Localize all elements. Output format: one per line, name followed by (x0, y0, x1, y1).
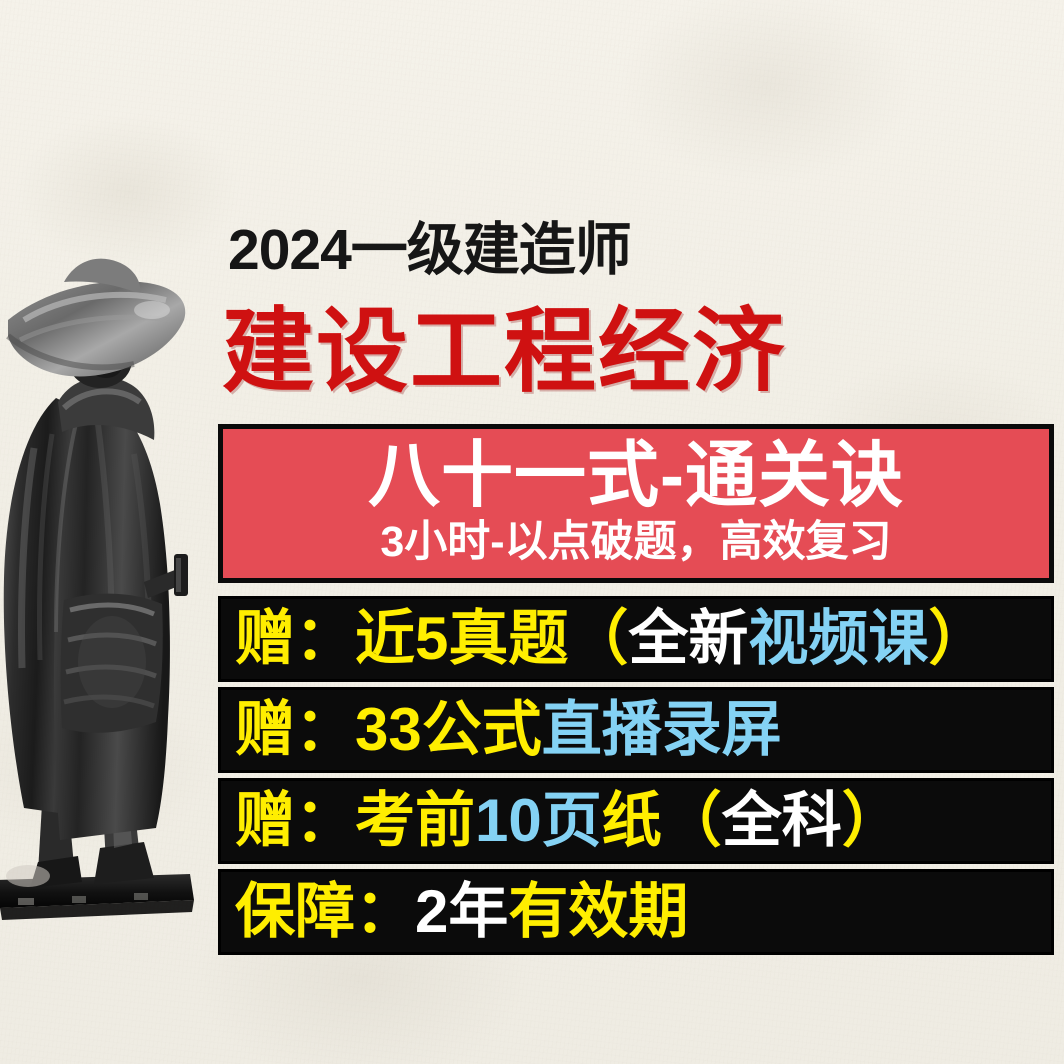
benefit-bar-text: 赠：33公式直播录屏 (235, 700, 782, 760)
promotional-poster: 2024一级建造师 建设工程经济 八十一式-通关诀 3小时-以点破题，高效复习 … (0, 0, 1064, 1064)
benefit-text-segment: 有效期 (508, 878, 688, 945)
statue-figure-image (0, 248, 224, 948)
benefit-text-segment: 全新 (628, 605, 748, 672)
benefit-text-segment: 赠：近5真题（ (235, 605, 628, 672)
benefit-bar-bonus-formulas: 赠：33公式直播录屏 (218, 687, 1054, 773)
benefit-text-segment: 10页 (475, 787, 602, 854)
page-title: 建设工程经济 (222, 306, 786, 398)
benefit-text-segment: 2年 (415, 878, 508, 945)
benefit-text-segment: 视频课 (748, 605, 928, 672)
benefit-bar-text: 保障：2年有效期 (235, 882, 688, 942)
benefit-bar-bonus-mock-exams: 赠：近5真题（全新视频课） (218, 596, 1054, 682)
highlight-banner: 八十一式-通关诀 3小时-以点破题，高效复习 (218, 424, 1054, 583)
banner-secondary-text: 3小时-以点破题，高效复习 (380, 521, 891, 564)
benefit-text-segment: ） (928, 605, 988, 672)
benefit-text-segment: 全科 (722, 787, 842, 854)
banner-primary-text: 八十一式-通关诀 (368, 440, 904, 512)
benefit-bar-text: 赠：近5真题（全新视频课） (235, 609, 988, 669)
benefit-bar-bonus-cheatsheet: 赠：考前10页纸（全科） (218, 778, 1054, 864)
benefit-text-segment: 赠：考前 (235, 787, 475, 854)
benefit-text-segment: 保障： (235, 878, 415, 945)
course-year-level-headline: 2024一级建造师 (228, 222, 631, 279)
statue-sash (61, 594, 163, 733)
benefit-text-segment: ） (842, 787, 902, 854)
benefit-bar-text: 赠：考前10页纸（全科） (235, 791, 902, 851)
benefit-text-segment: 直播录屏 (542, 696, 782, 763)
benefit-bar-guarantee-validity: 保障：2年有效期 (218, 869, 1054, 955)
statue-hat (8, 259, 185, 377)
benefit-text-segment: 赠：33公式 (235, 696, 542, 763)
benefit-text-segment: 纸（ (602, 787, 722, 854)
